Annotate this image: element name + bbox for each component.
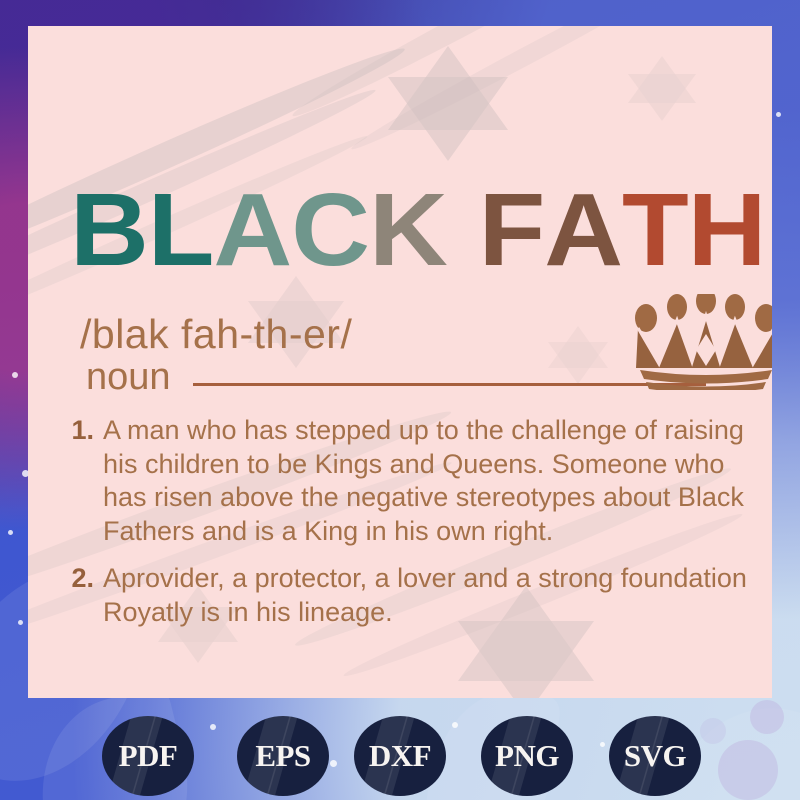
- list-item: 2. Aprovider, a protector, a lover and a…: [64, 562, 764, 629]
- poster-canvas: BLACKFATHER /blak fah-th-er/ noun: [0, 0, 800, 800]
- title-letter: K: [369, 176, 447, 284]
- title-letter: A: [544, 176, 622, 284]
- file-format-badges: PDFEPSDXFPNGSVG: [0, 706, 800, 796]
- title-letter: E: [765, 176, 772, 284]
- page-title: BLACKFATHER: [70, 176, 772, 284]
- title-letter: B: [70, 176, 148, 284]
- definition-text: Aprovider, a protector, a lover and a st…: [94, 562, 764, 629]
- format-badge-eps[interactable]: EPS: [237, 716, 329, 796]
- format-badge-dxf[interactable]: DXF: [354, 716, 446, 796]
- format-badge-label: SVG: [624, 738, 686, 774]
- title-letter: C: [291, 176, 369, 284]
- format-badge-label: EPS: [255, 738, 310, 774]
- list-item: 1. A man who has stepped up to the chall…: [64, 414, 764, 548]
- format-badge-label: PNG: [495, 738, 559, 774]
- sparkle-dot: [18, 620, 23, 625]
- crown-icon: [626, 294, 772, 390]
- title-letter: L: [148, 176, 214, 284]
- definition-text: A man who has stepped up to the challeng…: [94, 414, 764, 548]
- definition-list: 1. A man who has stepped up to the chall…: [64, 414, 764, 643]
- format-badge-pdf[interactable]: PDF: [102, 716, 194, 796]
- format-badge-label: DXF: [369, 738, 431, 774]
- sparkle-dot: [8, 530, 13, 535]
- poster-card: BLACKFATHER /blak fah-th-er/ noun: [28, 26, 772, 698]
- part-of-speech-label: noun: [86, 356, 171, 399]
- format-badge-svg[interactable]: SVG: [609, 716, 701, 796]
- definition-number: 1.: [64, 414, 94, 548]
- format-badge-png[interactable]: PNG: [481, 716, 573, 796]
- pronunciation-text: /blak fah-th-er/: [80, 311, 352, 358]
- part-of-speech-row: noun: [86, 356, 706, 399]
- title-letter: H: [688, 176, 766, 284]
- sparkle-dot: [776, 112, 781, 117]
- title-letter: A: [213, 176, 291, 284]
- title-letter: T: [622, 176, 688, 284]
- title-letter: F: [479, 176, 545, 284]
- definition-number: 2.: [64, 562, 94, 629]
- format-badge-label: PDF: [119, 738, 178, 774]
- sparkle-dot: [12, 372, 18, 378]
